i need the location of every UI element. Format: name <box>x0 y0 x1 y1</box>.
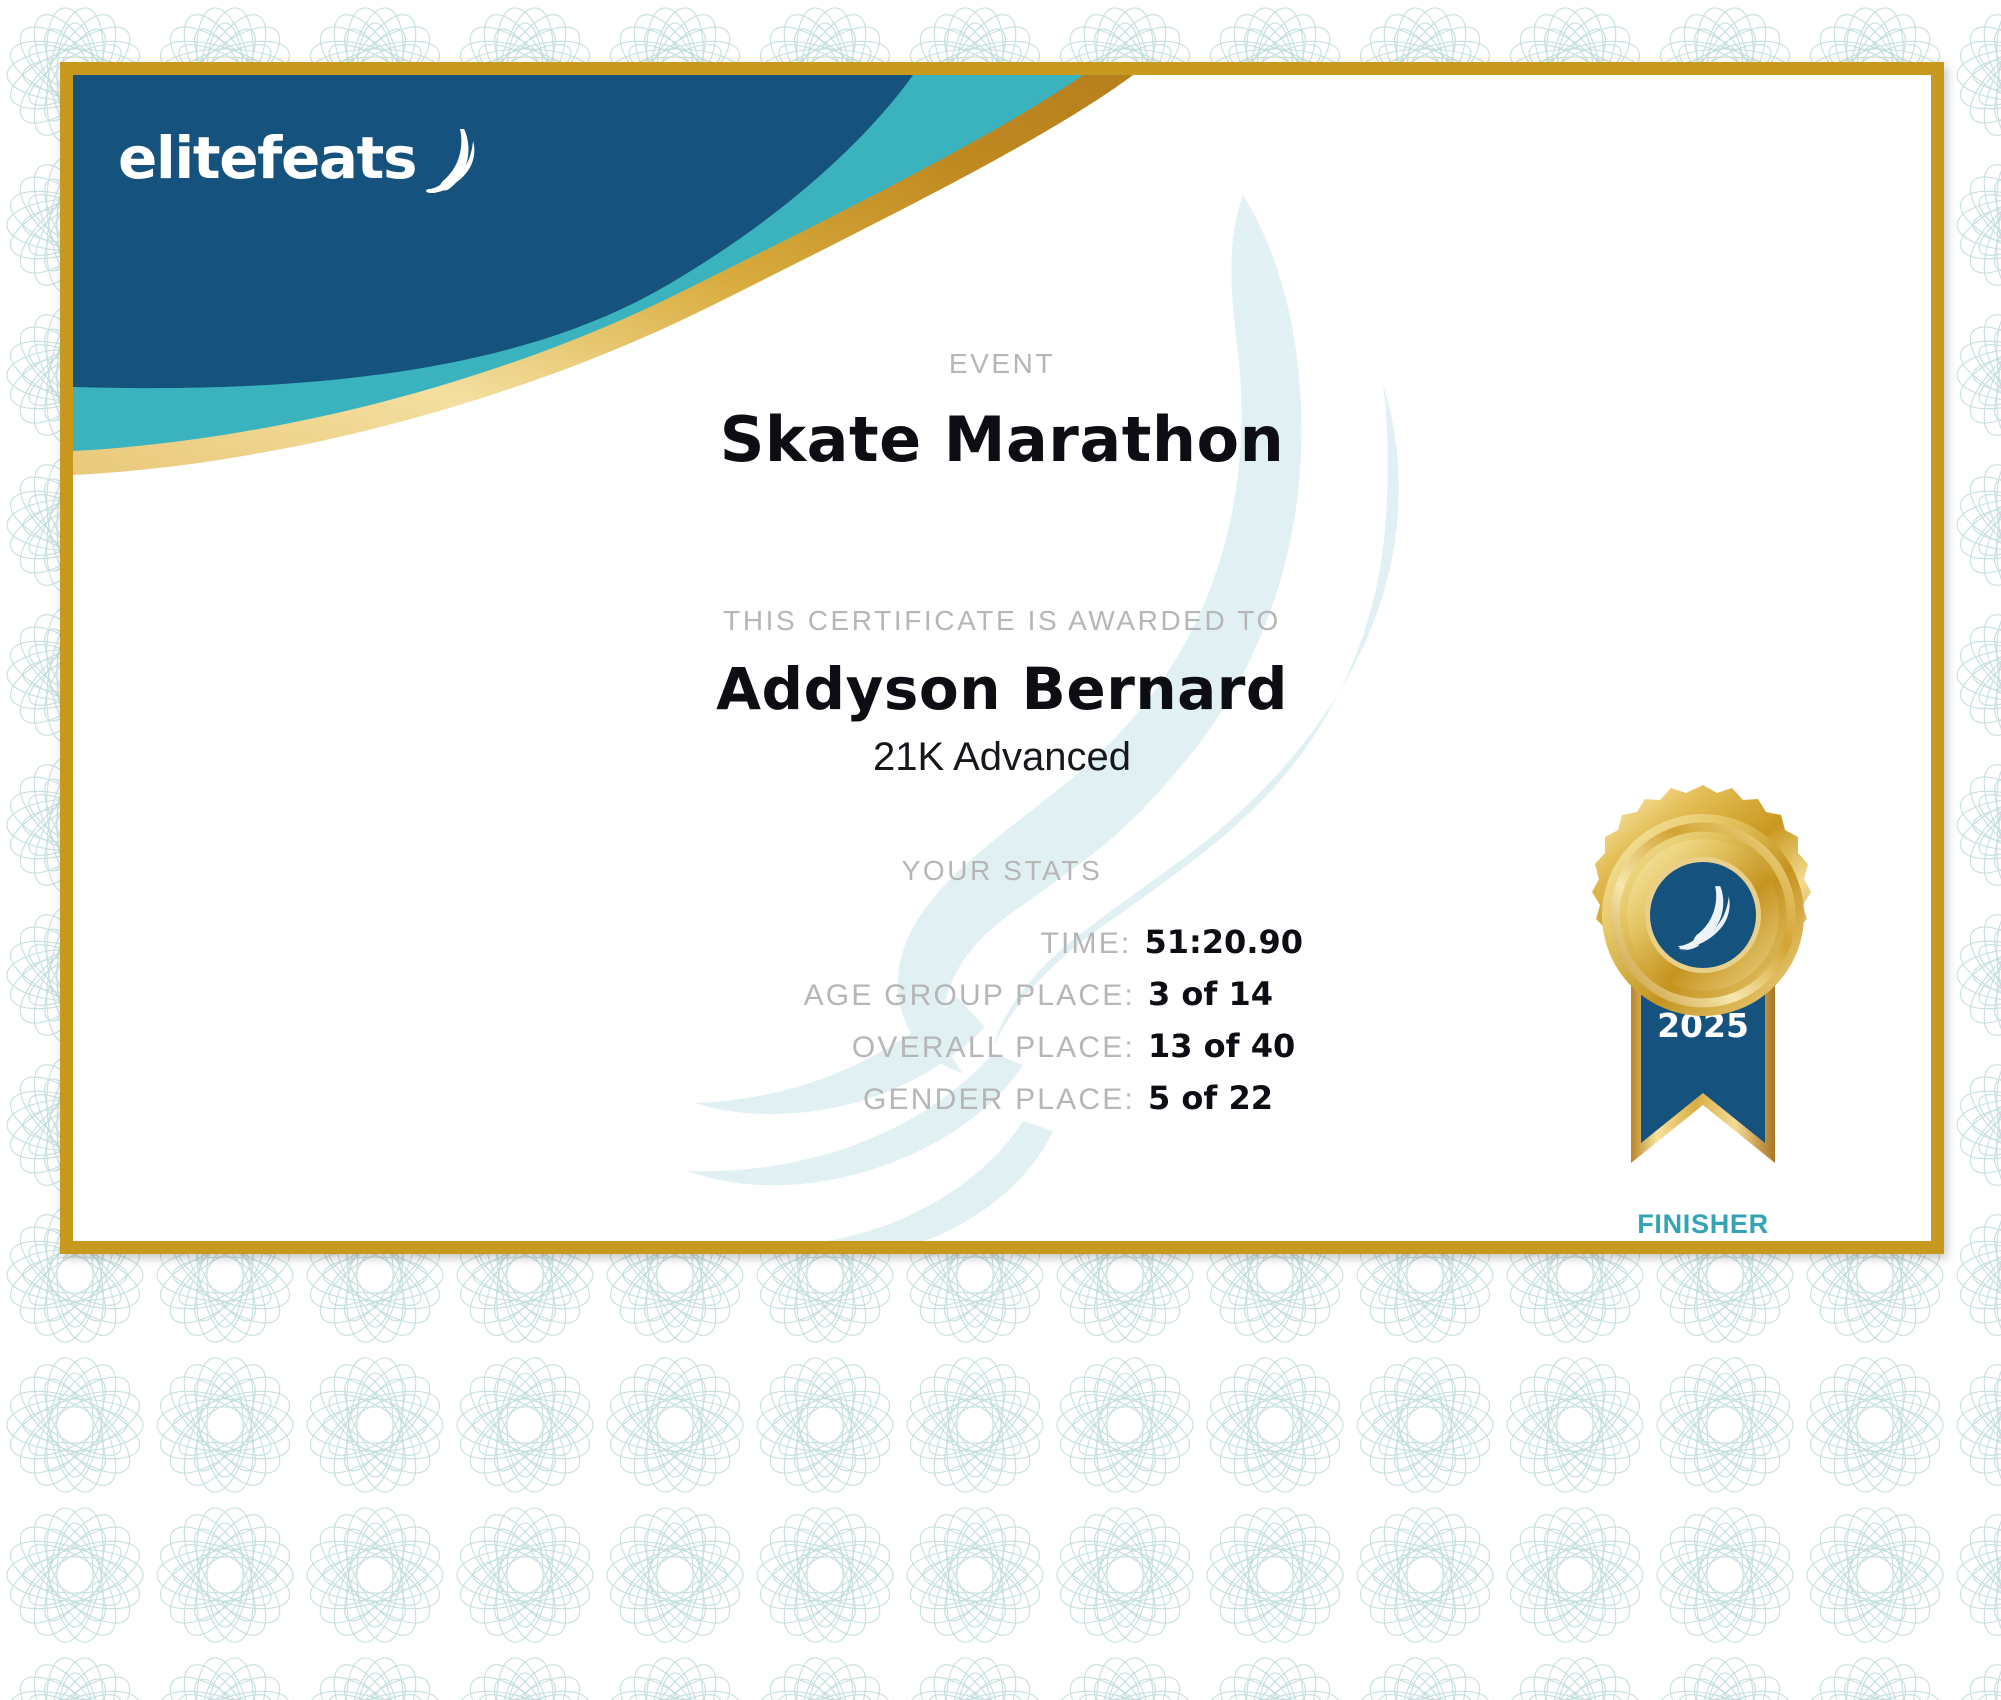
certificate-card: elitefeats EVENT Skate Marathon THIS CER… <box>60 62 1944 1254</box>
event-label: EVENT <box>73 348 1931 380</box>
stat-label-overall-place: OVERALL PLACE: <box>852 1031 1135 1065</box>
finisher-seal: 2025 <box>1553 775 1853 1241</box>
stat-value-gender-place: 5 of 22 <box>1148 1079 1303 1117</box>
recipient-division: 21K Advanced <box>73 735 1931 780</box>
stats-table: TIME: 51:20.90 AGE GROUP PLACE: 3 of 14 … <box>73 923 1303 1117</box>
award-medal-ribbon-icon: 2025 <box>1553 775 1853 1205</box>
stat-value-age-group-place: 3 of 14 <box>1148 975 1303 1013</box>
stat-row-gender-place: GENDER PLACE: 5 of 22 <box>73 1079 1303 1117</box>
stat-label-age-group-place: AGE GROUP PLACE: <box>804 979 1135 1013</box>
certificate-page: elitefeats EVENT Skate Marathon THIS CER… <box>0 0 2001 1700</box>
elitefeats-logo: elitefeats <box>118 127 482 187</box>
stat-value-time: 51:20.90 <box>1144 923 1303 961</box>
stat-row-time: TIME: 51:20.90 <box>73 923 1303 961</box>
stat-value-overall-place: 13 of 40 <box>1148 1027 1303 1065</box>
seal-caption: FINISHER CERTIFICATE <box>1553 1209 1853 1241</box>
stat-row-overall-place: OVERALL PLACE: 13 of 40 <box>73 1027 1303 1065</box>
winged-foot-icon <box>420 127 482 193</box>
stat-label-time: TIME: <box>1040 927 1131 961</box>
stat-label-gender-place: GENDER PLACE: <box>863 1083 1135 1117</box>
recipient-name: Addyson Bernard <box>73 655 1931 723</box>
event-name: Skate Marathon <box>73 403 1931 476</box>
seal-caption-line1: FINISHER <box>1553 1209 1853 1241</box>
certificate-content: EVENT Skate Marathon THIS CERTIFICATE IS… <box>73 75 1931 1241</box>
certificate-card-inner: elitefeats EVENT Skate Marathon THIS CER… <box>73 75 1931 1241</box>
brand-wordmark: elitefeats <box>118 129 416 187</box>
awarded-to-label: THIS CERTIFICATE IS AWARDED TO <box>73 605 1931 637</box>
stat-row-age-group-place: AGE GROUP PLACE: 3 of 14 <box>73 975 1303 1013</box>
